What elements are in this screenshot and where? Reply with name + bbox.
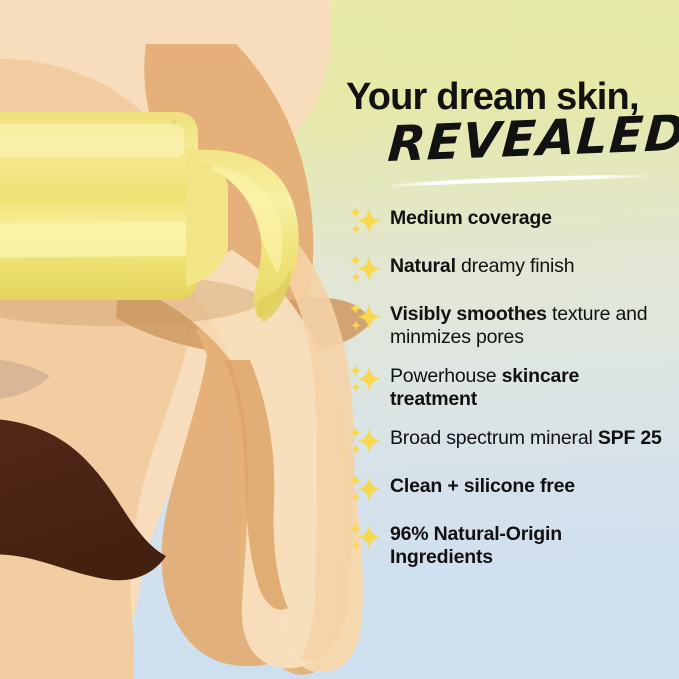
sparkle-icon <box>346 363 384 397</box>
list-item: Natural dreamy finish <box>346 252 666 287</box>
foundation-swatches <box>0 0 372 679</box>
sparkle-icon <box>346 301 384 335</box>
sparkle-icon <box>346 253 384 287</box>
list-item: Clean + silicone free <box>346 472 666 507</box>
list-item: 96% Natural-Origin Ingredients <box>346 520 666 569</box>
list-item-label: Broad spectrum mineral SPF 25 <box>390 424 662 450</box>
list-item-label: Medium coverage <box>390 204 552 230</box>
copy-block: Your dream skin, REVEALED <box>346 78 666 582</box>
list-item-label: Natural dreamy finish <box>390 252 574 278</box>
headline-line-2-wrap: REVEALED <box>346 122 666 186</box>
list-item-bold: Medium coverage <box>390 207 552 229</box>
list-item-rest: Broad spectrum mineral <box>390 427 598 449</box>
list-item: Broad spectrum mineral SPF 25 <box>346 424 666 459</box>
sparkle-icon <box>346 521 384 555</box>
product-marketing-image: Your dream skin, REVEALED <box>0 0 679 679</box>
sparkle-icon <box>346 205 384 239</box>
headline-line-2: REVEALED <box>386 109 679 169</box>
list-item-bold: 96% Natural-Origin Ingredients <box>390 523 562 568</box>
list-item-bold: SPF 25 <box>598 427 662 449</box>
list-item-rest: Powerhouse <box>390 365 502 387</box>
brush-swoosh-icon <box>390 172 662 188</box>
list-item: Visibly smoothes texture and minmizes po… <box>346 300 666 349</box>
list-item-label: 96% Natural-Origin Ingredients <box>390 520 666 569</box>
sparkle-icon <box>346 473 384 507</box>
list-item-bold: Natural <box>390 255 456 277</box>
list-item-label: Visibly smoothes texture and minmizes po… <box>390 300 666 349</box>
benefits-list: Medium coverage Natural dreamy finish <box>346 204 666 569</box>
list-item-bold: Visibly smoothes <box>390 303 547 325</box>
list-item-label: Clean + silicone free <box>390 472 575 498</box>
list-item-label: Powerhouse skincare treatment <box>390 362 666 411</box>
list-item: Medium coverage <box>346 204 666 239</box>
list-item: Powerhouse skincare treatment <box>346 362 666 411</box>
list-item-rest: dreamy finish <box>456 255 575 277</box>
list-item-bold: Clean + silicone free <box>390 475 575 497</box>
sparkle-icon <box>346 425 384 459</box>
